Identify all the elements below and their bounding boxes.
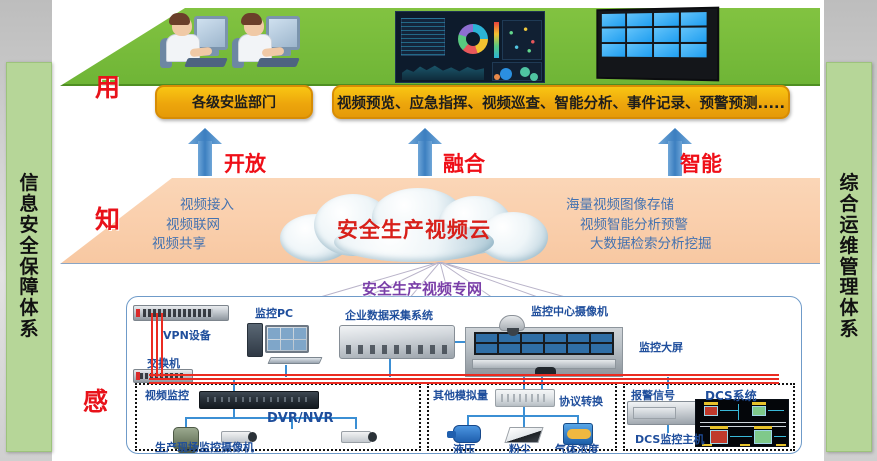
hydraulic-label: 液压: [453, 441, 475, 454]
cloud-right-capabilities: 海量视频图像存储 视频智能分析预警 大数据检索分析挖掘: [566, 196, 712, 255]
center-camera-label: 监控中心摄像机: [531, 303, 608, 319]
pillar-right-char-5: 理: [839, 278, 858, 298]
video-wall-image: [593, 8, 718, 80]
group-title-video-monitoring: 视频监控: [145, 387, 189, 403]
pillar-left-char-1: 息: [19, 195, 38, 215]
pillar-right-char-0: 综: [839, 174, 858, 194]
private-network-label: 安全生产视频专网: [362, 278, 482, 299]
up-arrow-open-icon: [188, 128, 222, 176]
analytics-dashboard-image: [395, 11, 545, 83]
red-uplink-1: [151, 313, 153, 377]
video-wall-frame: [596, 7, 719, 82]
heat-scale: [494, 22, 499, 58]
dust-label: 粉尘: [509, 441, 531, 454]
big-screen-label: 监控大屏: [639, 339, 683, 355]
cloud-right-item-0: 海量视频图像存储: [566, 196, 712, 216]
pillar-information-security: 信 息 安 全 保 障 体 系: [6, 62, 52, 452]
operator-hair-icon: [241, 13, 262, 25]
data-collect-server-icon: [339, 325, 455, 359]
video-cloud-shape: 安全生产视频云: [280, 188, 548, 262]
up-arrow-converge-icon: [408, 128, 442, 176]
layer-tag-apply: 用: [95, 68, 120, 104]
video-wall-grid: [602, 12, 707, 57]
pillar-right-char-1: 合: [839, 195, 858, 215]
pillar-left-char-4: 保: [19, 258, 38, 278]
vpn-device-label: VPN设备: [163, 327, 211, 343]
pc-monitor-icon: [265, 325, 309, 353]
cloud-right-item-1: 视频智能分析预警: [566, 216, 712, 236]
operator-keyboard-icon: [184, 58, 228, 67]
architecture-diagram: 用 知 感 信 息 安 全 保 障 体 系 综 合 运 维 管 理 体 系: [0, 0, 877, 461]
pillar-operation-management: 综 合 运 维 管 理 体 系: [826, 62, 872, 452]
layer-tag-sense: 感: [83, 382, 108, 418]
center-camera-icon: [499, 315, 525, 331]
site-cameras-label: 生产现场监控摄像机: [155, 439, 254, 454]
bubble-small: [494, 74, 500, 80]
pillar-right-char-7: 系: [839, 320, 858, 340]
operator-figure-1: [160, 12, 228, 80]
pillar-left-char-6: 体: [19, 299, 38, 319]
monitor-pc-label: 监控PC: [255, 305, 293, 321]
functions-box[interactable]: 视频预览、应急指挥、视频巡查、智能分析、事件记录、预警预测.....: [332, 85, 790, 119]
layer-tag-know: 知: [95, 200, 120, 236]
pillar-right-char-2: 运: [839, 216, 858, 236]
pc-keyboard-icon: [267, 357, 322, 364]
pillar-right-char-4: 管: [839, 258, 858, 278]
cloud-left-item-0: 视频接入: [152, 196, 234, 216]
bubble-medium: [520, 67, 530, 77]
department-box[interactable]: 各级安监部门: [155, 85, 313, 119]
cloud-left-item-1: 视频联网: [152, 216, 234, 236]
group-title-analog-signals: 其他模拟量: [433, 387, 488, 403]
donut-chart: [458, 24, 488, 54]
pillar-right-char-3: 维: [839, 237, 858, 257]
dcs-host-label: DCS监控主机: [635, 431, 704, 447]
cloud-left-capabilities: 视频接入 视频联网 视频共享: [152, 196, 234, 255]
red-uplink-3: [161, 313, 163, 377]
cloud-right-item-2: 大数据检索分析挖掘: [566, 235, 712, 255]
trend-area-chart: [402, 62, 484, 80]
operator-keyboard-icon: [256, 58, 300, 67]
arrow-label-intelligent: 智能: [680, 148, 722, 178]
pillar-left-char-0: 信: [19, 174, 38, 194]
operator-hair-icon: [169, 13, 190, 25]
bubble-large: [500, 68, 512, 80]
arrow-label-converge: 融合: [443, 148, 485, 178]
pillar-left-char-7: 系: [19, 320, 38, 340]
red-bus-line-2: [149, 378, 779, 380]
arrow-label-open: 开放: [224, 148, 266, 178]
cloud-title: 安全生产视频云: [280, 214, 548, 244]
pillar-left-char-3: 全: [19, 237, 38, 257]
pillar-left-char-2: 安: [19, 216, 38, 236]
control-room-image: [465, 327, 623, 377]
pillar-left-char-5: 障: [19, 278, 38, 298]
red-bus-line-1: [149, 374, 779, 376]
protocol-converter-label: 协议转换: [559, 393, 603, 409]
bubble-medium-2: [530, 73, 538, 81]
switch-device-icon: [133, 369, 193, 383]
dvr-nvr-label: DVR/NVR: [267, 411, 334, 426]
operator-figure-2: [232, 12, 300, 80]
pillar-right-char-6: 体: [839, 299, 858, 319]
pc-tower-icon: [247, 323, 263, 357]
cloud-left-item-2: 视频共享: [152, 235, 234, 255]
dcs-system-label: DCS系统: [705, 387, 757, 404]
group-title-alarm-signal: 报警信号: [631, 387, 675, 403]
sense-layer-network-panel: VPN设备 交换机 监控PC 企业数据采集系统 监控中心摄像机: [126, 296, 802, 454]
vpn-device-icon: [133, 305, 229, 321]
red-uplink-2: [156, 313, 158, 377]
data-collect-label: 企业数据采集系统: [345, 307, 433, 323]
red-bus-line-3: [149, 382, 779, 384]
control-room-video-wall: [474, 332, 614, 355]
gas-concentration-label: 气体浓度: [555, 441, 599, 454]
